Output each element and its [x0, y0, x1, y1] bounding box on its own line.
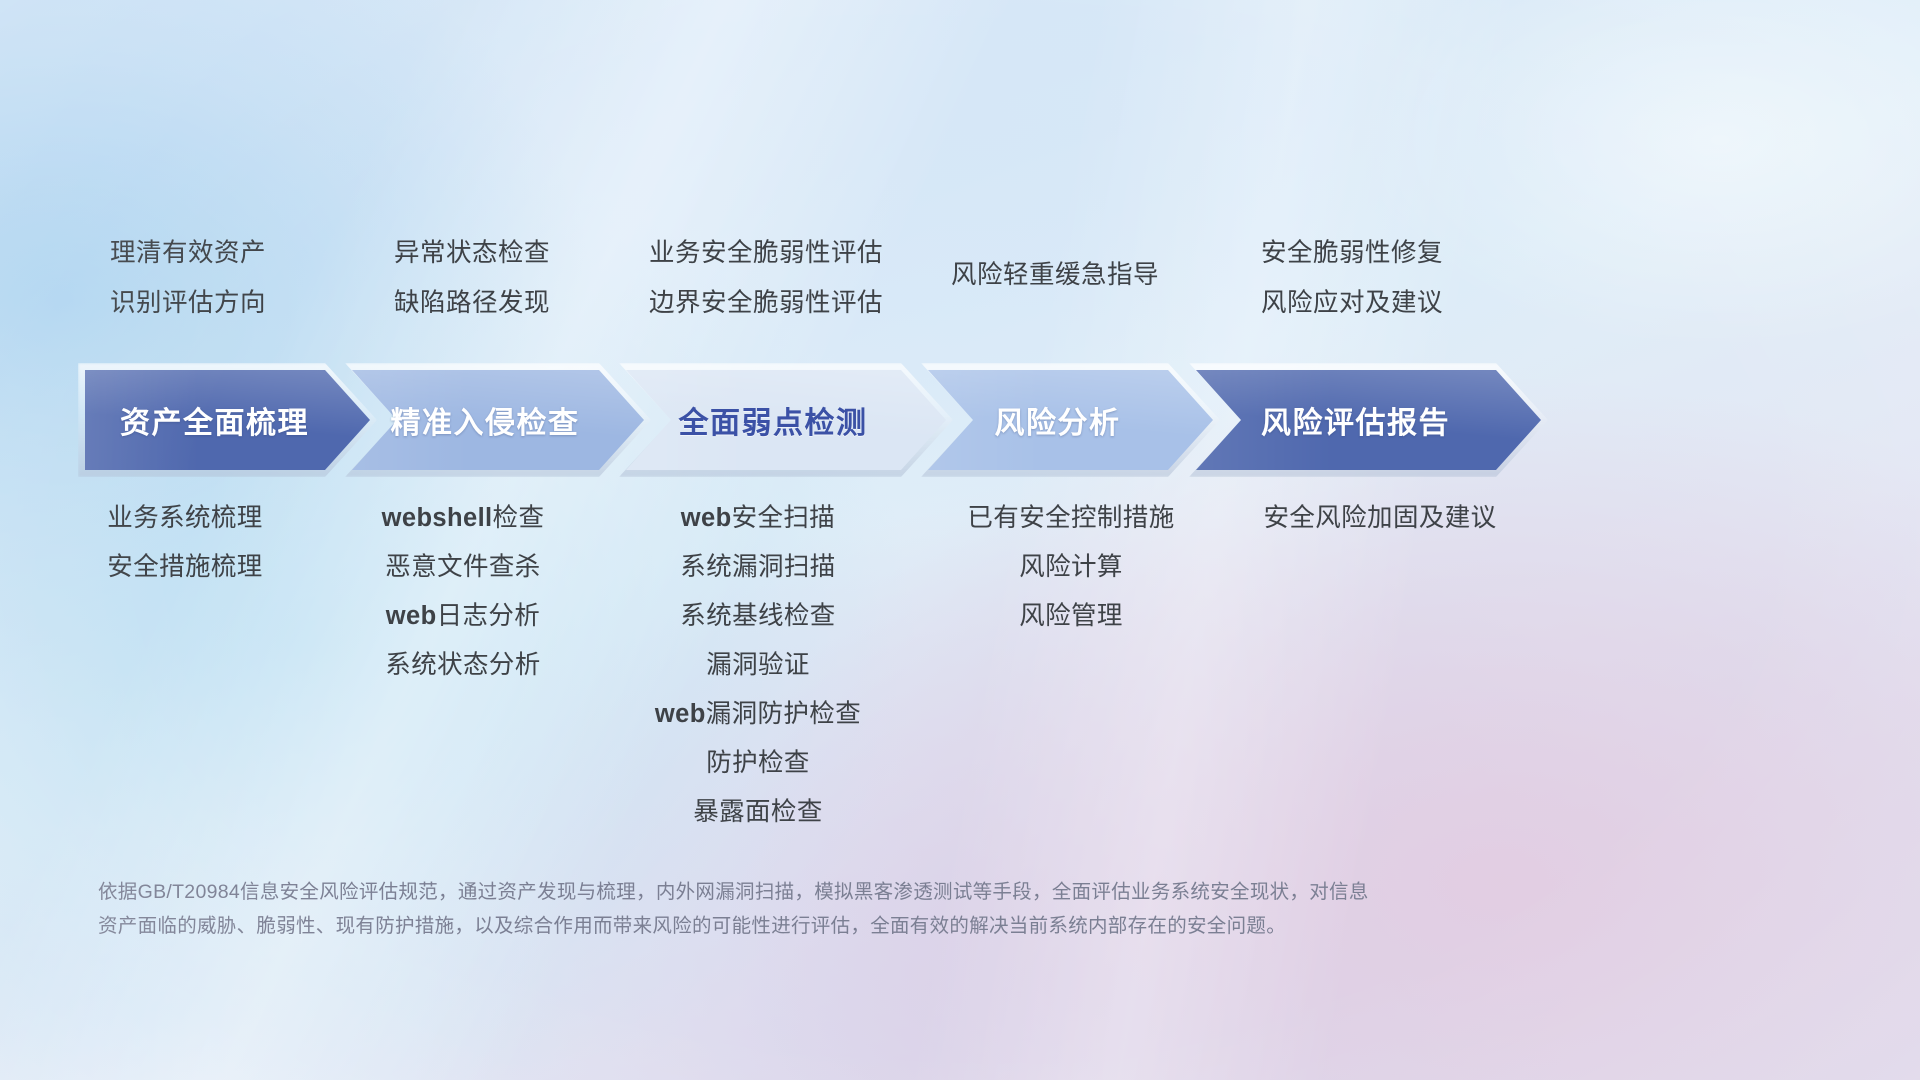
chevron-asset-inventory[interactable]: 资产全面梳理	[85, 370, 370, 470]
detail-item: 风险管理	[871, 592, 1271, 641]
top-label: 风险应对及建议	[1152, 278, 1552, 328]
top-label: 安全脆弱性修复	[1152, 228, 1552, 278]
detail-list-risk-report: 安全风险加固及建议	[1180, 494, 1580, 543]
chevron-intrusion-check[interactable]: 精准入侵检查	[352, 370, 644, 470]
footer-line-2: 资产面临的威胁、脆弱性、现有防护措施，以及综合作用而带来风险的可能性进行评估，全…	[98, 909, 1658, 943]
top-labels-risk-report: 安全脆弱性修复风险应对及建议	[1152, 228, 1552, 328]
chevron-risk-report[interactable]: 风险评估报告	[1196, 370, 1541, 470]
chevron-label: 风险分析	[995, 398, 1147, 442]
detail-item: 漏洞验证	[558, 641, 958, 690]
detail-item: 暴露面检查	[558, 788, 958, 837]
top-labels-row: 理清有效资产识别评估方向异常状态检查缺陷路径发现业务安全脆弱性评估边界安全脆弱性…	[0, 228, 1920, 338]
chevron-label: 资产全面梳理	[120, 398, 335, 442]
chevron-label: 全面弱点检测	[679, 398, 894, 442]
chevron-label: 精准入侵检查	[391, 398, 606, 442]
footer-description: 依据GB/T20984信息安全风险评估规范，通过资产发现与梳理，内外网漏洞扫描，…	[98, 875, 1658, 943]
detail-item: web漏洞防护检查	[558, 690, 958, 739]
process-chevron-band: 资产全面梳理精准入侵检查全面弱点检测风险分析风险评估报告	[0, 370, 1920, 476]
chevron-risk-analysis[interactable]: 风险分析	[928, 370, 1213, 470]
footer-line-1: 依据GB/T20984信息安全风险评估规范，通过资产发现与梳理，内外网漏洞扫描，…	[98, 875, 1658, 909]
detail-item: 防护检查	[558, 739, 958, 788]
detail-item: 风险计算	[871, 543, 1271, 592]
detail-item: 安全风险加固及建议	[1180, 494, 1580, 543]
slide-canvas: 理清有效资产识别评估方向异常状态检查缺陷路径发现业务安全脆弱性评估边界安全脆弱性…	[0, 0, 1920, 1080]
chevron-label: 风险评估报告	[1261, 398, 1476, 442]
chevron-weakness-detection[interactable]: 全面弱点检测	[626, 370, 946, 470]
